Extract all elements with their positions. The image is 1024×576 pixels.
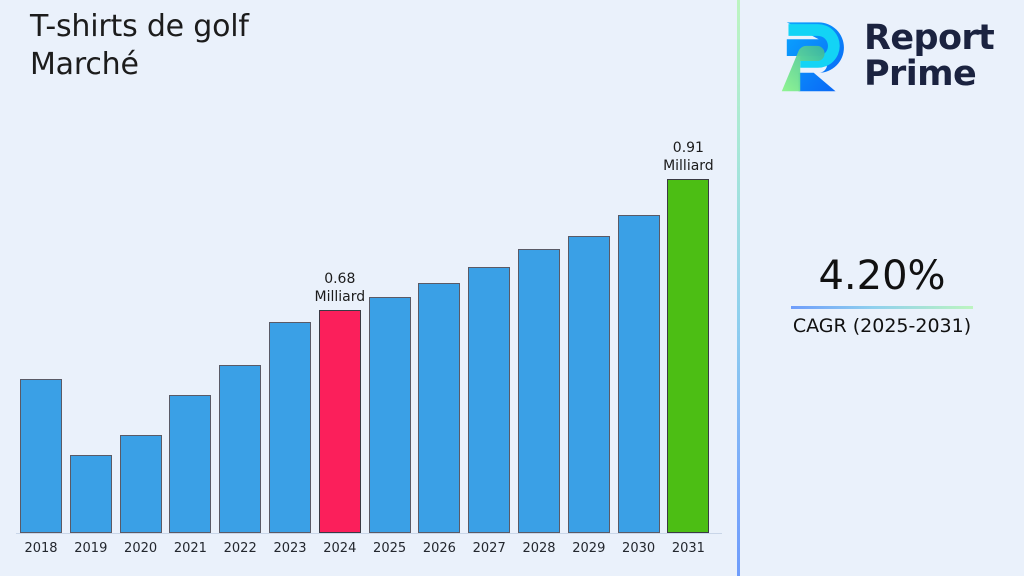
bar-2027[interactable] (468, 267, 510, 533)
bar-2031[interactable] (667, 179, 709, 533)
x-axis-line (16, 533, 722, 534)
bar-2021[interactable] (169, 395, 211, 533)
x-axis-label-2030: 2030 (612, 541, 666, 556)
x-axis-label-2027: 2027 (462, 541, 516, 556)
bar-2019[interactable] (70, 455, 112, 533)
x-axis-label-2021: 2021 (163, 541, 217, 556)
bar-2018[interactable] (20, 379, 62, 533)
cagr-value: 4.20% (740, 252, 1024, 300)
bar-2023[interactable] (269, 322, 311, 533)
report-prime-logo-mark (770, 14, 854, 98)
bar-2030[interactable] (618, 215, 660, 533)
report-prime-logo: Report Prime (770, 10, 1002, 102)
bar-value-label-2031: 0.91 Milliard (649, 139, 727, 175)
bar-chart-plot-area: 20182019202020212022202320240.68 Milliar… (0, 0, 737, 576)
x-axis-label-2028: 2028 (512, 541, 566, 556)
x-axis-label-2031: 2031 (661, 541, 715, 556)
x-axis-label-2024: 2024 (313, 541, 367, 556)
chart-page: T-shirts de golf Marché 2018201920202021… (0, 0, 1024, 576)
logo-wordmark: Report Prime (864, 20, 994, 92)
x-axis-label-2022: 2022 (213, 541, 267, 556)
bar-2028[interactable] (518, 249, 560, 533)
x-axis-label-2029: 2029 (562, 541, 616, 556)
bar-2024[interactable] (319, 310, 361, 533)
bar-2022[interactable] (219, 365, 261, 533)
x-axis-label-2023: 2023 (263, 541, 317, 556)
cagr-divider-rule (791, 306, 973, 309)
cagr-caption: CAGR (2025-2031) (740, 313, 1024, 339)
x-axis-label-2020: 2020 (114, 541, 168, 556)
x-axis-label-2019: 2019 (64, 541, 118, 556)
bar-2020[interactable] (120, 435, 162, 533)
x-axis-label-2018: 2018 (14, 541, 68, 556)
bar-2026[interactable] (418, 283, 460, 533)
x-axis-label-2025: 2025 (363, 541, 417, 556)
bar-2025[interactable] (369, 297, 411, 533)
x-axis-label-2026: 2026 (412, 541, 466, 556)
bar-2029[interactable] (568, 236, 610, 533)
bar-value-label-2024: 0.68 Milliard (301, 270, 379, 306)
brand-panel: Report Prime 4.20% CAGR (2025-2031) (740, 0, 1024, 576)
cagr-block: 4.20% CAGR (2025-2031) (740, 252, 1024, 339)
chart-panel: T-shirts de golf Marché 2018201920202021… (0, 0, 737, 576)
